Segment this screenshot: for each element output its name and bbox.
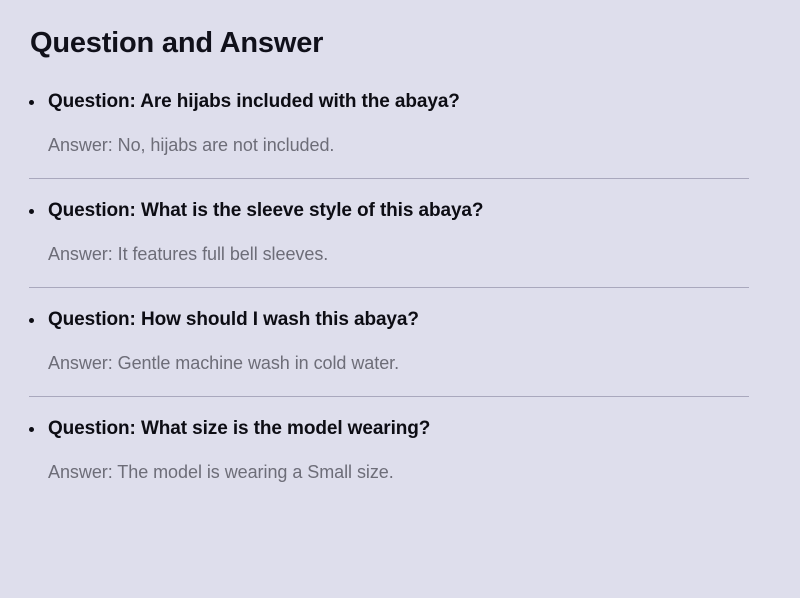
bullet-dot-icon [29, 209, 34, 214]
qa-item: Question: Are hijabs included with the a… [29, 90, 775, 179]
qa-item: Question: How should I wash this abaya? … [29, 308, 775, 397]
qa-list: Question: Are hijabs included with the a… [29, 90, 775, 484]
qa-question-text: Question: What is the sleeve style of th… [48, 200, 483, 221]
qa-divider [29, 287, 749, 288]
qa-question: Question: What is the sleeve style of th… [29, 199, 775, 224]
qa-item: Question: What size is the model wearing… [29, 417, 775, 484]
qa-answer-text: Answer: Gentle machine wash in cold wate… [29, 352, 775, 375]
qa-question-text: Question: Are hijabs included with the a… [48, 91, 460, 112]
bullet-dot-icon [29, 427, 34, 432]
question-and-answer-panel: Question and Answer Question: Are hijabs… [0, 0, 800, 598]
qa-question-text: Question: How should I wash this abaya? [48, 309, 419, 330]
bullet-dot-icon [29, 100, 34, 105]
qa-question: Question: How should I wash this abaya? [29, 308, 775, 333]
qa-item: Question: What is the sleeve style of th… [29, 199, 775, 288]
qa-answer-text: Answer: It features full bell sleeves. [29, 243, 775, 266]
bullet-dot-icon [29, 318, 34, 323]
qa-answer-text: Answer: No, hijabs are not included. [29, 134, 775, 157]
qa-divider [29, 178, 749, 179]
qa-question: Question: What size is the model wearing… [29, 417, 775, 442]
qa-answer-text: Answer: The model is wearing a Small siz… [29, 461, 775, 484]
qa-question: Question: Are hijabs included with the a… [29, 90, 775, 115]
qa-question-text: Question: What size is the model wearing… [48, 418, 430, 439]
page-title: Question and Answer [30, 26, 775, 60]
qa-divider [29, 396, 749, 397]
